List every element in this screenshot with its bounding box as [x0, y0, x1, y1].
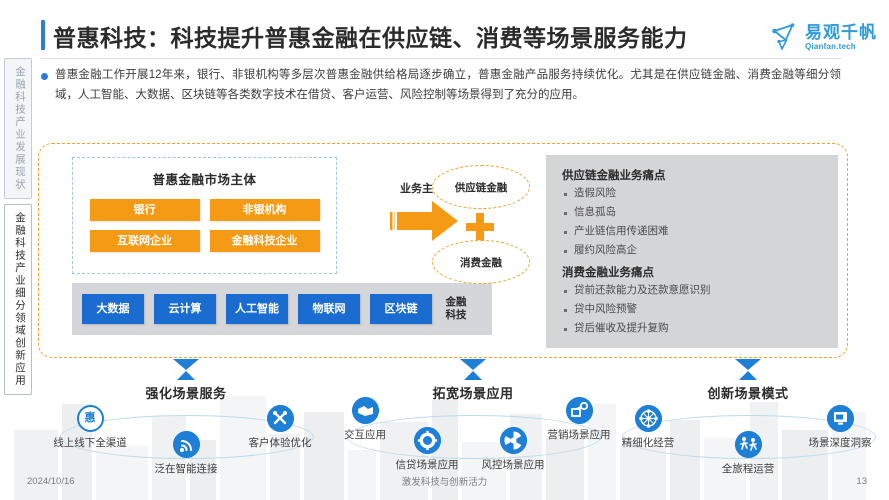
market-subject-chip-grid: 银行 非银机构 互联网企业 金融科技企业	[73, 199, 336, 252]
sidebar: 金融科技产业发展现状 金融科技产业细分领域创新应用	[4, 58, 34, 400]
chip-bank[interactable]: 银行	[90, 199, 200, 221]
title-accent-bar	[41, 20, 45, 50]
tools-wrench-icon	[267, 405, 294, 432]
chip-internet-firm[interactable]: 互联网企业	[90, 230, 200, 252]
chip-fintech-firm[interactable]: 金融科技企业	[210, 230, 320, 252]
pain-points-panel: 供应链金融业务痛点 造假风险 信息孤岛 产业链信用传递困难 履约风险高企 消费金…	[546, 155, 838, 348]
scenario-node-label: 风控场景应用	[482, 457, 545, 472]
footer-page-number: 13	[856, 476, 867, 487]
neural-network-icon	[635, 405, 662, 432]
scenario-node[interactable]: 场景深度洞察	[792, 405, 888, 450]
header-divider	[41, 58, 841, 59]
plus-icon	[466, 213, 494, 241]
footer-slogan: 激发科技与创新活力	[0, 474, 889, 488]
down-arrow-icon	[735, 359, 761, 381]
market-subject-panel: 普惠金融市场主体 银行 非银机构 互联网企业 金融科技企业	[72, 157, 337, 274]
target-consumer-finance[interactable]: 消费金融	[432, 240, 530, 284]
shield-alert-icon	[500, 427, 527, 454]
scenario-node-label: 精细化经营	[622, 435, 675, 450]
intro-paragraph: 普惠金融工作开展12年来，银行、非银机构等多层次普惠金融供给格局逐步确立，普惠金…	[41, 66, 841, 106]
wifi-signal-icon	[173, 431, 200, 458]
monitor-insight-icon	[827, 405, 854, 432]
network-share-icon	[566, 397, 593, 424]
scenario-node[interactable]: 惠 线上线下全渠道	[42, 405, 138, 450]
pain-item: 贷前还款能力及还款意愿识别	[574, 285, 824, 296]
market-subject-title: 普惠金融市场主体	[73, 169, 336, 188]
tech-chip-cloud[interactable]: 云计算	[154, 294, 216, 324]
scenario-title: 创新场景模式	[608, 383, 888, 402]
down-arrow-icon	[460, 359, 486, 381]
tech-bar-label: 金融科技	[444, 296, 468, 322]
pain-item: 造假风险	[574, 188, 824, 199]
scenario-node[interactable]: 全旅程运营	[700, 431, 796, 476]
footer-date: 2024/10/16	[27, 476, 75, 487]
scenario-node-label: 场景深度洞察	[809, 435, 872, 450]
tech-chip-bigdata[interactable]: 大数据	[82, 294, 144, 324]
scenario-node-label: 信贷场景应用	[396, 457, 459, 472]
scenario-node[interactable]: 泛在智能连接	[138, 431, 234, 476]
tech-chip-ai[interactable]: 人工智能	[226, 294, 288, 324]
hui-badge-icon: 惠	[77, 405, 104, 432]
pain-section-title-supplychain: 供应链金融业务痛点	[562, 167, 824, 183]
qianfan-boat-logo-icon	[770, 22, 800, 52]
journey-people-icon	[735, 431, 762, 458]
logo-text-cn: 易观千帆	[805, 24, 877, 41]
target-supply-chain-finance[interactable]: 供应链金融	[432, 165, 530, 209]
tech-chip-iot[interactable]: 物联网	[298, 294, 360, 324]
brand-logo: 易观千帆 Qianfan.tech	[770, 22, 877, 52]
pain-item: 产业链信用传递困难	[574, 226, 824, 237]
handshake-icon	[352, 397, 379, 424]
pain-item: 履约风险高企	[574, 245, 824, 256]
tech-chip-blockchain[interactable]: 区块链	[370, 294, 432, 324]
sidebar-item-segment-innovation[interactable]: 金融科技产业细分领域创新应用	[4, 204, 32, 395]
chip-nonbank[interactable]: 非银机构	[210, 199, 320, 221]
footer: 2024/10/16 激发科技与创新活力 13	[0, 474, 889, 488]
pain-item: 贷中风险预警	[574, 304, 824, 315]
scenario-node[interactable]: 信贷场景应用	[379, 427, 475, 472]
scenario-node[interactable]: 客户体验优化	[232, 405, 328, 450]
pain-section-title-consumer: 消费金融业务痛点	[562, 264, 824, 280]
pain-item: 信息孤岛	[574, 207, 824, 218]
scenario-node[interactable]: 精细化经营	[600, 405, 696, 450]
intro-text: 普惠金融工作开展12年来，银行、非银机构等多层次普惠金融供给格局逐步确立，普惠金…	[55, 66, 841, 106]
page-title: 普惠科技：科技提升普惠金融在供应链、消费等场景服务能力	[53, 19, 688, 53]
scenario-node-label: 线上线下全渠道	[53, 435, 127, 450]
pain-item: 贷后催收及提升复购	[574, 323, 824, 334]
fintech-tech-bar: 大数据 云计算 人工智能 物联网 区块链 金融科技	[72, 283, 492, 335]
bullet-dot-icon	[41, 73, 48, 80]
sidebar-item-industry-status[interactable]: 金融科技产业发展现状	[4, 58, 32, 199]
down-arrow-icon	[173, 359, 199, 381]
scenario-node-label: 客户体验优化	[249, 435, 312, 450]
logo-text-en: Qianfan.tech	[805, 43, 877, 51]
right-arrow-icon	[390, 198, 462, 244]
gear-icon	[414, 427, 441, 454]
scenario-title: 强化场景服务	[46, 383, 326, 402]
